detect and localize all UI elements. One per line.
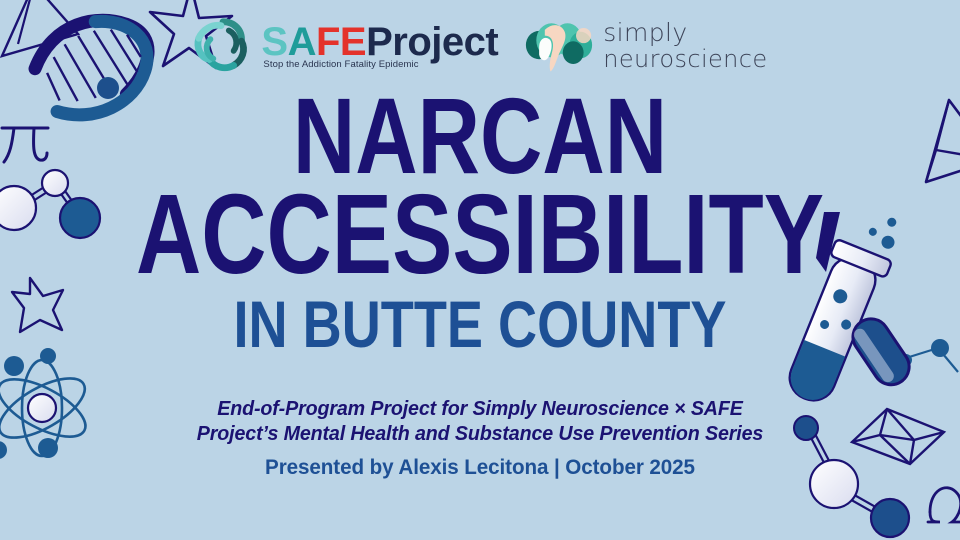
logo-row: SAFEProject Stop the Addiction Fatality …: [0, 6, 960, 86]
safe-project-wordmark: SAFEProject: [261, 22, 498, 62]
subtitle-line-2: Project’s Mental Health and Substance Us…: [19, 421, 941, 446]
simply-neuroscience-word-simply: simply: [603, 20, 687, 47]
safe-project-pinwheel-icon: [192, 15, 254, 77]
slide-subtitle-block: End-of-Program Project for Simply Neuros…: [0, 396, 960, 480]
simply-neuroscience-word-neuroscience: neuroscience: [603, 47, 767, 72]
title-line-in-butte-county: IN BUTTE COUNTY: [86, 291, 873, 357]
subtitle-line-1: End-of-Program Project for Simply Neuros…: [19, 396, 941, 421]
omega-symbol-doodle: [928, 488, 960, 522]
presentation-slide: SAFEProject Stop the Addiction Fatality …: [0, 0, 960, 540]
simply-neuroscience-logo: simply neuroscience: [524, 18, 767, 74]
safe-project-logo: SAFEProject Stop the Addiction Fatality …: [192, 15, 498, 77]
safe-project-tagline: Stop the Addiction Fatality Epidemic: [263, 59, 418, 70]
simply-neuroscience-brain-icon: [524, 18, 594, 74]
title-line-accessibility: ACCESSIBILITY: [96, 183, 864, 287]
presenter-credit: Presented by Alexis Lecitona | October 2…: [19, 455, 941, 480]
slide-headline: NARCAN ACCESSIBILITY IN BUTTE COUNTY: [0, 86, 960, 357]
